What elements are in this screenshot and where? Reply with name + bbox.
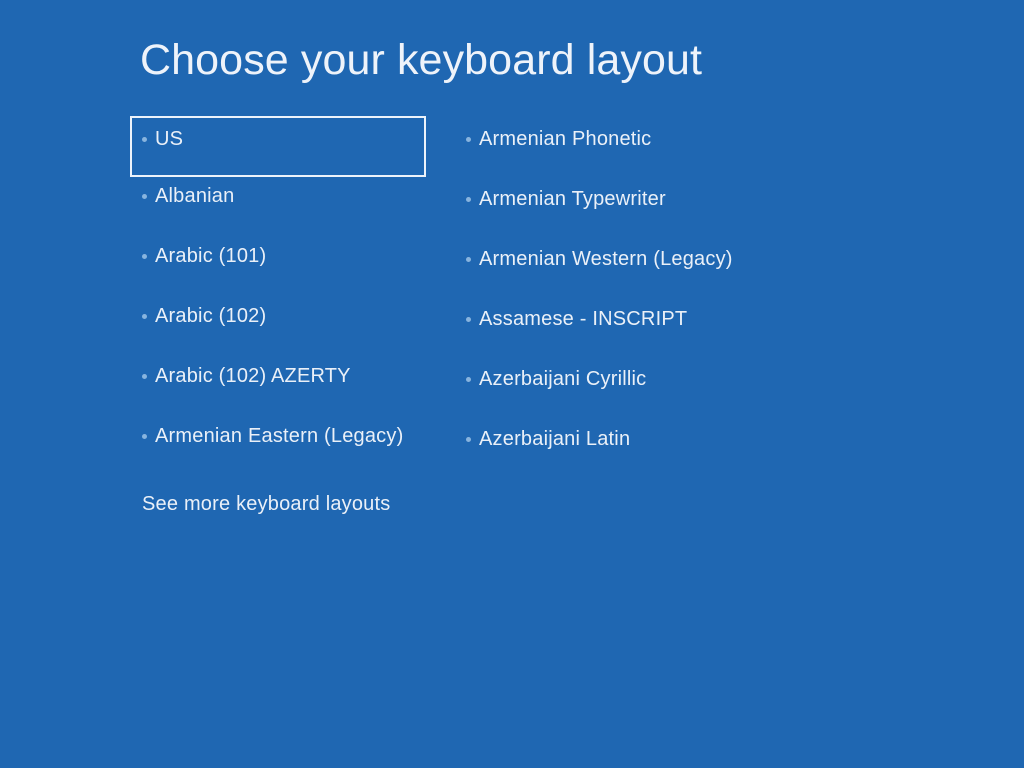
layout-option-label: Albanian [155,184,234,208]
bullet-dot-icon [466,137,471,142]
layout-option-armenian-typewriter[interactable]: Armenian Typewriter [460,178,820,238]
layout-option-label: Armenian Eastern (Legacy) [155,424,403,448]
layout-option-label: Armenian Phonetic [479,127,651,151]
bullet-dot-icon [142,374,147,379]
layout-option-label: Azerbaijani Cyrillic [479,367,646,391]
bullet-dot-icon [466,377,471,382]
layout-option-assamese-inscript[interactable]: Assamese - INSCRIPT [460,298,820,358]
layout-option-us[interactable]: US [132,118,424,175]
bullet-dot-icon [466,317,471,322]
bullet-dot-icon [466,197,471,202]
layout-option-azerbaijani-cyrillic[interactable]: Azerbaijani Cyrillic [460,358,820,418]
bullet-dot-icon [466,437,471,442]
bullet-dot-icon [142,254,147,259]
layout-option-arabic-101[interactable]: Arabic (101) [132,235,432,295]
layout-option-armenian-western-legacy[interactable]: Armenian Western (Legacy) [460,238,820,298]
bullet-dot-icon [142,137,147,142]
layout-option-azerbaijani-latin[interactable]: Azerbaijani Latin [460,418,820,478]
layout-option-albanian[interactable]: Albanian [132,175,432,235]
bullet-dot-icon [142,194,147,199]
keyboard-layout-column-left: US Albanian Arabic (101) Arabic (102) Ar… [132,118,432,475]
layout-option-armenian-phonetic[interactable]: Armenian Phonetic [460,118,820,178]
bullet-dot-icon [142,434,147,439]
page-title: Choose your keyboard layout [140,36,702,85]
layout-option-arabic-102[interactable]: Arabic (102) [132,295,432,355]
layout-option-label: Assamese - INSCRIPT [479,307,687,331]
layout-option-label: Armenian Typewriter [479,187,666,211]
bullet-dot-icon [466,257,471,262]
layout-option-label: Arabic (101) [155,244,266,268]
layout-option-label: Arabic (102) [155,304,266,328]
keyboard-layout-column-right: Armenian Phonetic Armenian Typewriter Ar… [460,118,820,478]
layout-option-label: Azerbaijani Latin [479,427,630,451]
see-more-keyboard-layouts-link[interactable]: See more keyboard layouts [142,492,390,516]
layout-option-label: Arabic (102) AZERTY [155,364,351,388]
layout-option-label: Armenian Western (Legacy) [479,247,733,271]
keyboard-layout-screen: Choose your keyboard layout US Albanian … [0,0,1024,768]
layout-option-arabic-102-azerty[interactable]: Arabic (102) AZERTY [132,355,432,415]
layout-option-armenian-eastern-legacy[interactable]: Armenian Eastern (Legacy) [132,415,432,475]
bullet-dot-icon [142,314,147,319]
layout-option-label: US [155,127,183,151]
